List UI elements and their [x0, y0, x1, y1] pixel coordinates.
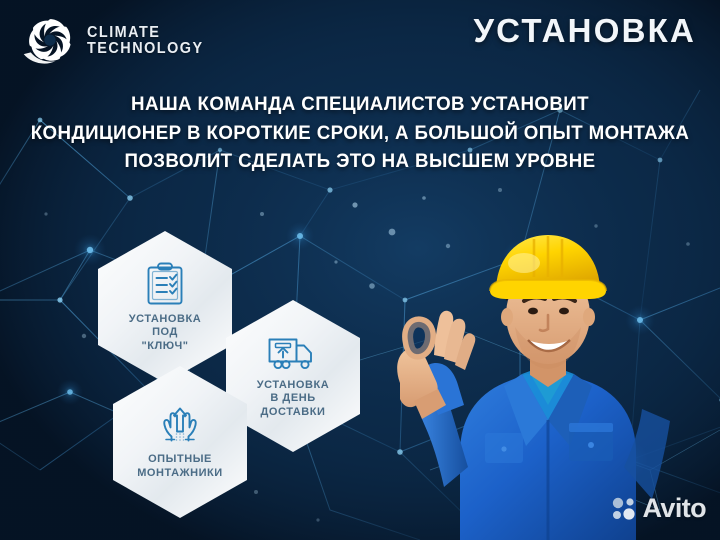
advertisement-banner: CLIMATE TECHNOLOGY УСТАНОВКА НАША КОМАНД…: [0, 0, 720, 540]
headline-line-3: ПОЗВОЛИТ СДЕЛАТЬ ЭТО НА ВЫСШЕМ УРОВНЕ: [14, 147, 705, 176]
page-title: УСТАНОВКА: [473, 12, 696, 50]
brand-name-line2: TECHNOLOGY: [87, 41, 204, 57]
avito-dots-icon: [611, 496, 637, 522]
feature-caption-line: ДОСТАВКИ: [257, 406, 330, 420]
fan-swirl-icon: [22, 13, 78, 69]
headline-line-1: НАША КОМАНДА СПЕЦИАЛИСТОВ УСТАНОВИТ: [14, 90, 705, 119]
headline-line-2: КОНДИЦИОНЕР В КОРОТКИЕ СРОКИ, А БОЛЬШОЙ …: [14, 119, 705, 148]
feature-caption-line: УСТАНОВКА: [257, 379, 330, 393]
worker-photo: [372, 205, 720, 540]
hands-holding-unit-icon: [155, 403, 205, 447]
avito-watermark-label: Avito: [643, 493, 707, 524]
headline: НАША КОМАНДА СПЕЦИАЛИСТОВ УСТАНОВИТ КОНД…: [0, 90, 720, 176]
feature-caption-line: "КЛЮЧ": [129, 340, 202, 354]
brand-logo: CLIMATE TECHNOLOGY: [22, 13, 212, 69]
feature-caption-line: В ДЕНЬ: [257, 392, 330, 406]
feature-caption-line: УСТАНОВКА: [129, 313, 202, 327]
feature-caption: УСТАНОВКА ПОД "КЛЮЧ": [129, 313, 202, 354]
feature-caption-line: ПОД: [129, 326, 202, 340]
feature-caption: УСТАНОВКА В ДЕНЬ ДОСТАВКИ: [257, 379, 330, 420]
delivery-truck-icon: [267, 333, 319, 373]
feature-caption-line: ОПЫТНЫЕ: [137, 453, 223, 467]
feature-caption-line: МОНТАЖНИКИ: [137, 467, 223, 481]
feature-caption: ОПЫТНЫЕ МОНТАЖНИКИ: [137, 453, 223, 480]
brand-name-line1: CLIMATE: [87, 25, 204, 41]
avito-watermark: Avito: [611, 493, 707, 524]
clipboard-checklist-icon: [144, 261, 186, 307]
